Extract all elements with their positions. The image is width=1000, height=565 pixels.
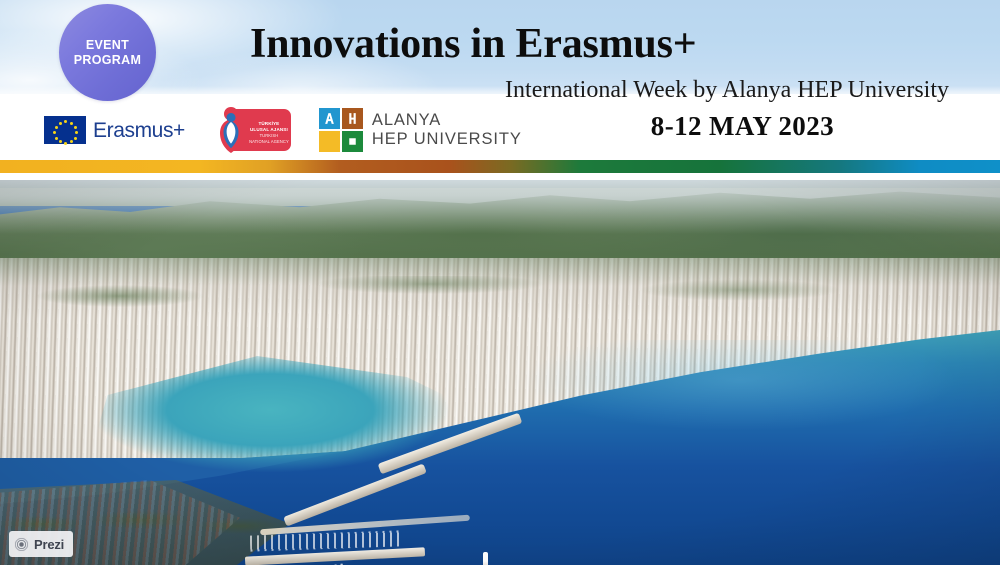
brand-gradient-rule [0,160,1000,173]
alanya-hep-university-mark [319,108,363,152]
tna-wordmark-line2: TURKISH NATIONAL AGENCY [249,133,289,144]
logo-tile-bottom-right [342,131,363,152]
prezi-watermark-label: Prezi [34,538,64,551]
tna-wordmark-line1: TÜRKİYE ULUSAL AJANSI [250,121,288,132]
alanya-hep-university-logo: ALANYA HEP UNIVERSITY [319,108,522,152]
tna-figure-icon [216,105,246,155]
photo-breakwater [200,418,530,523]
page-subtitle: International Week by Alanya HEP Univers… [505,76,949,104]
event-program-slide: EVENT PROGRAM Innovations in Erasmus+ In… [0,0,1000,565]
logo-tile-bottom-left [319,131,340,152]
alanya-hep-university-wordmark: ALANYA HEP UNIVERSITY [372,111,522,149]
photo-mountain-haze [0,188,1000,234]
event-program-badge-label: EVENT PROGRAM [74,38,141,68]
page-title: Innovations in Erasmus+ [250,21,696,67]
alanya-harbour-photo [0,180,1000,565]
erasmus-plus-wordmark: Erasmus+ [93,120,185,141]
logo-tile-glyph-h-icon [346,112,359,125]
event-date: 8-12 MAY 2023 [651,110,834,142]
logo-tile-top-right [342,108,363,129]
prezi-watermark[interactable]: Prezi [9,531,73,557]
photo-city-greenery [0,276,1000,336]
brand-rule-fade [0,173,1000,180]
turkish-national-agency-logo: TÜRKİYE ULUSAL AJANSI TURKISH NATIONAL A… [213,105,291,155]
event-program-badge[interactable]: EVENT PROGRAM [59,4,156,101]
photo-sea-highlight [480,340,1000,470]
prezi-logo-icon [14,537,29,552]
logo-tile-glyph-a-icon [323,112,336,125]
tna-wordmark: TÜRKİYE ULUSAL AJANSI TURKISH NATIONAL A… [249,121,289,145]
slide-header: EVENT PROGRAM Innovations in Erasmus+ In… [0,0,1000,180]
photo-breakwater-inner [283,463,427,526]
eu-flag-icon [44,116,86,144]
logo-tile-top-left [319,108,340,129]
logo-tile-glyph-square-icon [346,135,359,148]
photo-lighthouse [483,552,488,565]
logo-row: Erasmus+ TÜRKİYE ULUSAL AJANSI TURKISH N… [44,104,522,156]
photo-breakwater-outer [378,413,523,475]
erasmus-plus-logo: Erasmus+ [44,116,185,144]
